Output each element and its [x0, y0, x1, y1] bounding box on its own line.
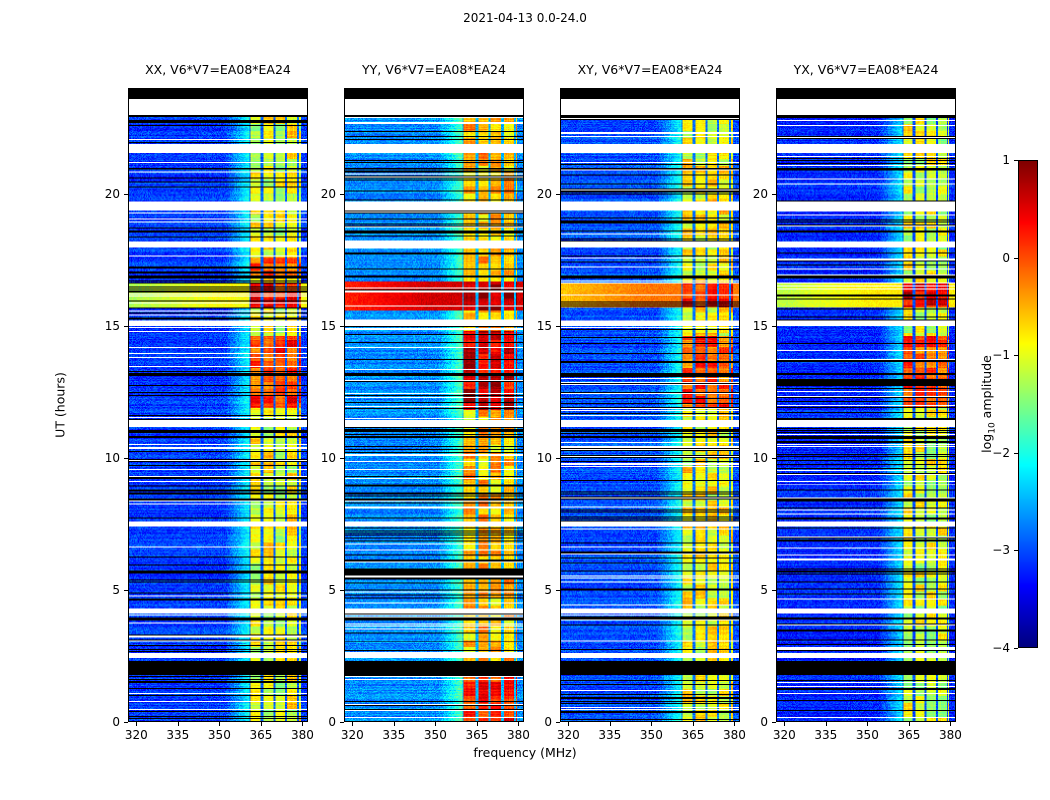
x-tick-label: 335 [598, 728, 621, 742]
x-tick-label: 380 [507, 728, 530, 742]
x-tick-label: 365 [249, 728, 272, 742]
spectrogram-image-xx [129, 89, 307, 721]
x-tick-mark [477, 722, 478, 726]
y-tick-label: 15 [522, 319, 552, 333]
spectrogram-panel-xx[interactable] [128, 88, 308, 722]
x-tick-mark [909, 722, 910, 726]
x-tick-mark [610, 722, 611, 726]
y-tick-mark [772, 458, 776, 459]
y-tick-label: 20 [738, 187, 768, 201]
y-tick-label: 5 [522, 583, 552, 597]
x-tick-label: 320 [557, 728, 580, 742]
figure-suptitle: 2021-04-13 0.0-24.0 [0, 11, 1050, 25]
y-tick-mark [772, 194, 776, 195]
y-axis-label: UT (hours) [53, 372, 68, 438]
spectrogram-image-yy [345, 89, 523, 721]
y-tick-mark [340, 590, 344, 591]
spectrogram-image-xy [561, 89, 739, 721]
y-tick-label: 0 [306, 715, 336, 729]
spectrogram-panel-xy[interactable] [560, 88, 740, 722]
x-tick-mark [136, 722, 137, 726]
x-tick-label: 335 [382, 728, 405, 742]
y-tick-label: 10 [90, 451, 120, 465]
y-tick-label: 20 [306, 187, 336, 201]
x-tick-mark [302, 722, 303, 726]
colorbar-tick-label: 0 [976, 251, 1010, 265]
y-tick-mark [340, 722, 344, 723]
x-tick-mark [867, 722, 868, 726]
y-tick-label: 15 [738, 319, 768, 333]
figure-canvas: 2021-04-13 0.0-24.0 XX, V6*V7=EA08*EA24 … [0, 0, 1050, 800]
x-tick-label: 365 [681, 728, 704, 742]
y-tick-mark [556, 194, 560, 195]
panel-title-xy: XY, V6*V7=EA08*EA24 [560, 62, 740, 77]
colorbar-tick-mark [1014, 258, 1018, 259]
spectrogram-image-yx [777, 89, 955, 721]
y-tick-mark [340, 458, 344, 459]
y-tick-label: 15 [306, 319, 336, 333]
y-tick-mark [124, 722, 128, 723]
x-tick-label: 380 [291, 728, 314, 742]
y-tick-mark [124, 590, 128, 591]
y-tick-mark [772, 590, 776, 591]
panel-title-yx: YX, V6*V7=EA08*EA24 [776, 62, 956, 77]
y-tick-label: 5 [306, 583, 336, 597]
y-tick-label: 0 [522, 715, 552, 729]
colorbar-tick-mark [1014, 453, 1018, 454]
y-tick-mark [772, 326, 776, 327]
x-tick-mark [784, 722, 785, 726]
x-tick-mark [518, 722, 519, 726]
y-tick-label: 15 [90, 319, 120, 333]
y-tick-label: 10 [738, 451, 768, 465]
x-tick-label: 350 [208, 728, 231, 742]
y-tick-label: 10 [306, 451, 336, 465]
x-tick-label: 320 [341, 728, 364, 742]
x-tick-mark [178, 722, 179, 726]
y-tick-mark [556, 458, 560, 459]
y-tick-mark [340, 326, 344, 327]
y-tick-label: 0 [90, 715, 120, 729]
y-tick-mark [124, 194, 128, 195]
x-tick-label: 350 [424, 728, 447, 742]
x-tick-label: 335 [814, 728, 837, 742]
x-tick-label: 365 [465, 728, 488, 742]
x-tick-mark [734, 722, 735, 726]
colorbar-tick-label: 1 [976, 153, 1010, 167]
colorbar-tick-mark [1014, 648, 1018, 649]
x-axis-label: frequency (MHz) [0, 745, 1050, 760]
y-tick-mark [772, 722, 776, 723]
y-tick-label: 5 [90, 583, 120, 597]
x-tick-label: 335 [166, 728, 189, 742]
x-tick-mark [219, 722, 220, 726]
x-tick-mark [693, 722, 694, 726]
panel-title-yy: YY, V6*V7=EA08*EA24 [344, 62, 524, 77]
panel-title-xx: XX, V6*V7=EA08*EA24 [128, 62, 308, 77]
x-tick-label: 365 [897, 728, 920, 742]
spectrogram-panel-yy[interactable] [344, 88, 524, 722]
y-tick-label: 20 [522, 187, 552, 201]
y-tick-mark [124, 326, 128, 327]
y-tick-mark [556, 590, 560, 591]
x-tick-label: 320 [125, 728, 148, 742]
x-tick-mark [352, 722, 353, 726]
x-tick-label: 380 [939, 728, 962, 742]
y-tick-mark [124, 458, 128, 459]
x-tick-mark [568, 722, 569, 726]
x-tick-label: 380 [723, 728, 746, 742]
y-tick-label: 5 [738, 583, 768, 597]
x-tick-label: 350 [640, 728, 663, 742]
spectrogram-panel-yx[interactable] [776, 88, 956, 722]
colorbar-tick-label: −4 [976, 641, 1010, 655]
x-tick-label: 350 [856, 728, 879, 742]
colorbar-tick-mark [1014, 160, 1018, 161]
colorbar-axis-label: log10 amplitude [979, 355, 998, 453]
y-tick-label: 20 [90, 187, 120, 201]
y-tick-mark [340, 194, 344, 195]
colorbar [1018, 160, 1038, 648]
y-tick-mark [556, 326, 560, 327]
x-tick-mark [950, 722, 951, 726]
y-tick-mark [556, 722, 560, 723]
x-tick-mark [435, 722, 436, 726]
x-tick-mark [651, 722, 652, 726]
x-tick-label: 320 [773, 728, 796, 742]
x-tick-mark [826, 722, 827, 726]
colorbar-tick-mark [1014, 355, 1018, 356]
y-tick-label: 0 [738, 715, 768, 729]
x-tick-mark [261, 722, 262, 726]
y-tick-label: 10 [522, 451, 552, 465]
colorbar-tick-mark [1014, 550, 1018, 551]
x-tick-mark [394, 722, 395, 726]
colorbar-tick-label: −3 [976, 543, 1010, 557]
